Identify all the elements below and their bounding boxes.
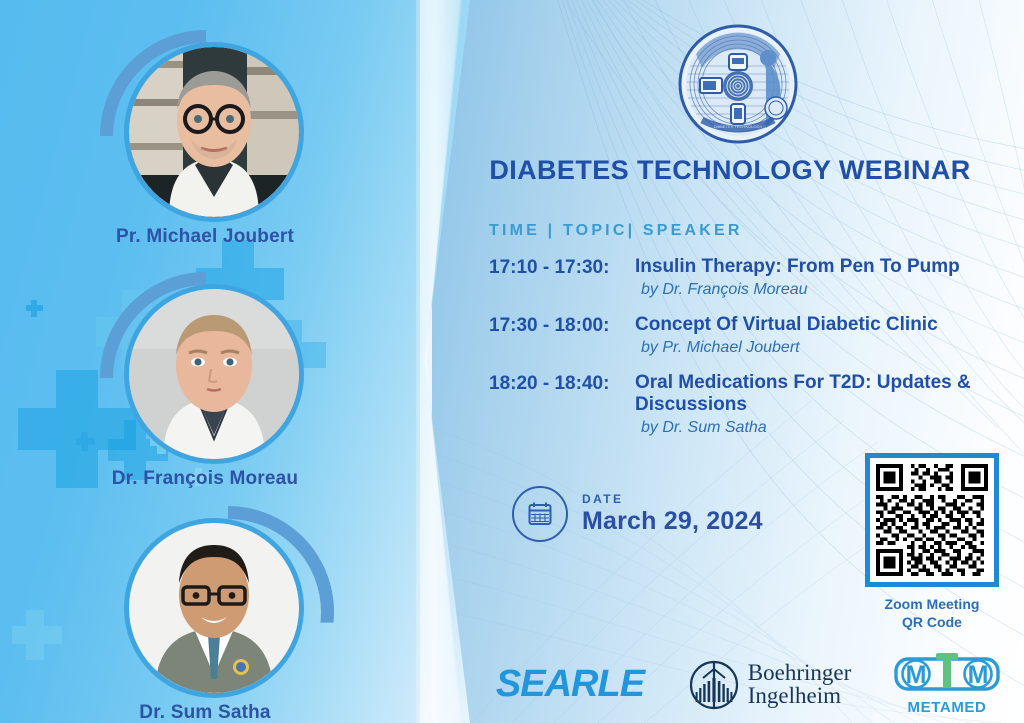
speaker-photo-frame — [100, 506, 310, 696]
portrait-michael-joubert — [129, 47, 299, 217]
schedule-row: 17:10 - 17:30: Insulin Therapy: From Pen… — [489, 256, 994, 299]
schedule-time: 17:30 - 18:00: — [489, 314, 635, 337]
speaker-card: Pr. Michael Joubert — [55, 30, 355, 248]
mtm-mark-icon: M M — [893, 653, 1001, 693]
metamed-caption: METAMED — [893, 699, 1001, 716]
schedule-time: 17:10 - 17:30: — [489, 256, 635, 279]
speaker-photo-frame — [100, 272, 310, 462]
schedule-header: TIME | TOPIC| SPEAKER — [489, 222, 743, 240]
metamed-logo: M M METAMED — [870, 653, 1024, 716]
avatar — [124, 284, 304, 464]
diabetes-technology-emblem: DIABETES TECHNOLOGY — [678, 24, 798, 144]
schedule-speaker: by Dr. François Moreau — [641, 281, 994, 299]
speaker-card: Dr. François Moreau — [55, 272, 355, 490]
speaker-name: Pr. Michael Joubert — [55, 226, 355, 248]
sponsor-logos: SEARLE — [470, 648, 1024, 720]
portrait-sum-satha — [129, 523, 299, 693]
boehringer-emblem-icon — [689, 658, 739, 710]
calendar-icon — [512, 486, 568, 542]
date-value: March 29, 2024 — [582, 507, 763, 536]
page-title: DIABETES TECHNOLOGY WEBINAR — [460, 155, 1000, 186]
portrait-francois-moreau — [129, 289, 299, 459]
schedule-row: 18:20 - 18:40: Oral Medications For T2D:… — [489, 372, 994, 437]
date-block: DATE March 29, 2024 — [512, 486, 763, 542]
schedule-speaker: by Dr. Sum Satha — [641, 419, 994, 437]
schedule-time: 18:20 - 18:40: — [489, 372, 635, 395]
schedule-topic: Insulin Therapy: From Pen To Pump — [635, 256, 960, 278]
searle-logo: SEARLE — [470, 663, 670, 706]
qr-block: Zoom Meeting QR Code — [857, 453, 1007, 631]
schedule-speaker: by Pr. Michael Joubert — [641, 339, 994, 357]
boehringer-ingelheim-logo: Boehringer Ingelheim — [670, 658, 870, 710]
searle-logo-text: SEARLE — [496, 663, 644, 706]
speaker-card: Dr. Sum Satha — [55, 506, 355, 723]
schedule-row: 17:30 - 18:00: Concept Of Virtual Diabet… — [489, 314, 994, 357]
schedule-topic: Concept Of Virtual Diabetic Clinic — [635, 314, 938, 336]
schedule-list: 17:10 - 17:30: Insulin Therapy: From Pen… — [489, 256, 994, 452]
speaker-photo-frame — [100, 30, 310, 220]
boehringer-line1: Boehringer — [748, 661, 851, 684]
speaker-name: Dr. François Moreau — [55, 468, 355, 490]
speaker-name: Dr. Sum Satha — [55, 702, 355, 723]
qr-caption-line2: QR Code — [857, 614, 1007, 632]
boehringer-line2: Ingelheim — [748, 684, 851, 707]
avatar — [124, 518, 304, 698]
date-label: DATE — [582, 492, 763, 506]
qr-caption: Zoom Meeting QR Code — [857, 596, 1007, 631]
qr-caption-line1: Zoom Meeting — [857, 596, 1007, 614]
schedule-topic: Oral Medications For T2D: Updates & Disc… — [635, 372, 971, 417]
svg-text:DIABETES TECHNOLOGY: DIABETES TECHNOLOGY — [714, 124, 763, 129]
avatar — [124, 42, 304, 222]
webinar-poster: Pr. Michael Joubert — [0, 0, 1024, 723]
qr-code[interactable] — [865, 453, 999, 587]
